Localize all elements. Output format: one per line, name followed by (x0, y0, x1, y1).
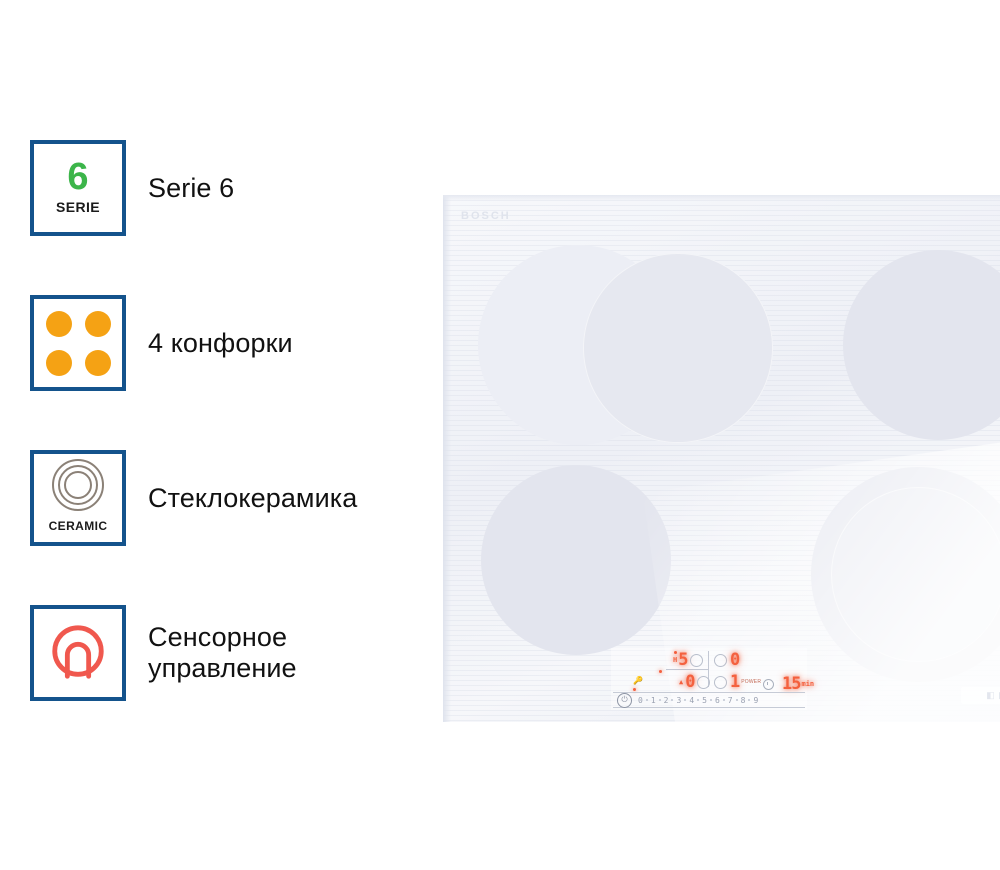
feature-label-touch: Сенсорное управление (148, 622, 297, 684)
timer-unit: min (801, 681, 814, 688)
zone-select-key-rear-left[interactable] (690, 654, 703, 667)
slider-pip (684, 699, 686, 701)
display-front-right-value: 1 (730, 674, 739, 691)
child-lock-icon[interactable]: 🔑 (633, 676, 643, 685)
slider-digit[interactable]: 6 (715, 696, 720, 705)
display-rear-left-value: 5 (678, 652, 687, 669)
ceramic-word: CERAMIC (49, 519, 108, 533)
display-front-right[interactable]: 1 POWER (714, 674, 761, 691)
burner-dot (46, 311, 72, 337)
display-rear-left-unit: H (673, 657, 677, 664)
slider-digit[interactable]: 2 (664, 696, 669, 705)
feature-row-serie: 6 SERIE Serie 6 (30, 138, 430, 238)
zone-select-key-front-left[interactable] (697, 676, 710, 689)
burner-grid (46, 311, 111, 376)
ceramic-rings-icon: CERAMIC (30, 450, 126, 546)
slider-digit[interactable]: 9 (753, 696, 758, 705)
slider-digit[interactable]: 5 (702, 696, 707, 705)
feature-list: 6 SERIE Serie 6 4 конфорки CERAMIC Стекл (30, 138, 430, 703)
ceramic-ring-inner (64, 471, 92, 499)
feature-row-touch: Сенсорное управление (30, 603, 430, 703)
burner-dot (85, 311, 111, 337)
slider-pip (646, 699, 648, 701)
cooking-zone-front-left (481, 465, 671, 655)
slider-pip (659, 699, 661, 701)
slider-digit[interactable]: 1 (651, 696, 656, 705)
slider-digit[interactable]: 8 (741, 696, 746, 705)
serie-6-badge-icon: 6 SERIE (30, 140, 126, 236)
slider-pip (736, 699, 738, 701)
slider-pip (723, 699, 725, 701)
slider-digit[interactable]: 0 (638, 696, 643, 705)
timer-value: 15 (782, 676, 800, 693)
feature-row-ceramic: CERAMIC Стеклокерамика (30, 448, 430, 548)
finger-touch-glyph (47, 622, 109, 684)
timer-clock-icon[interactable] (763, 679, 774, 690)
ceramic-rings (52, 459, 104, 511)
panel-divider-horizontal (666, 669, 708, 670)
indicator-dot (659, 670, 662, 673)
slider-pip (710, 699, 712, 701)
burner-dot (85, 350, 111, 376)
display-rear-right[interactable]: 0 (714, 652, 739, 669)
serie-number: 6 (67, 159, 88, 195)
serie-word: SERIE (56, 199, 100, 215)
keep-warm-icon: ▲ (679, 679, 683, 686)
slider-pip (748, 699, 750, 701)
cooking-zone-rear-left-inner (583, 253, 773, 443)
cooking-zone-rear-right (843, 250, 1000, 440)
display-front-left[interactable]: ▲ 0 (679, 674, 710, 691)
feature-label-ceramic: Стеклокерамика (148, 483, 357, 514)
four-burners-icon (30, 295, 126, 391)
touch-control-panel[interactable]: 🔑 H 5 0 ▲ 0 1 POWER 15 m (611, 648, 807, 710)
hob-bottom-right-badge: ◧ ▮◗ (961, 687, 1000, 704)
cooktop-product-image: BOSCH Ø 🔑 H 5 0 ▲ 0 (443, 195, 1000, 722)
display-rear-left[interactable]: H 5 (673, 652, 703, 669)
power-boost-label: POWER (741, 680, 761, 685)
indicator-dot (633, 688, 636, 691)
feature-row-burners: 4 конфорки (30, 293, 430, 393)
zone-select-key-rear-right[interactable] (714, 654, 727, 667)
cooking-zone-front-right-inner (831, 487, 1000, 662)
power-on-off-key[interactable]: ⏻ (617, 693, 632, 708)
power-level-slider[interactable]: ⏻ 0 1 2 3 4 5 6 7 8 9 (613, 692, 805, 708)
slider-pip (697, 699, 699, 701)
burner-dot (46, 350, 72, 376)
display-front-left-value: 0 (685, 674, 694, 691)
slider-pip (671, 699, 673, 701)
hob-brand-wordmark: BOSCH (461, 210, 511, 222)
slider-digit[interactable]: 7 (728, 696, 733, 705)
slider-digit[interactable]: 3 (676, 696, 681, 705)
feature-label-burners: 4 конфорки (148, 328, 293, 359)
display-rear-right-value: 0 (730, 652, 739, 669)
slider-digit[interactable]: 4 (689, 696, 694, 705)
feature-label-serie: Serie 6 (148, 173, 234, 204)
touch-control-icon (30, 605, 126, 701)
timer-display[interactable]: 15 min (763, 676, 814, 693)
zone-select-key-front-right[interactable] (714, 676, 727, 689)
